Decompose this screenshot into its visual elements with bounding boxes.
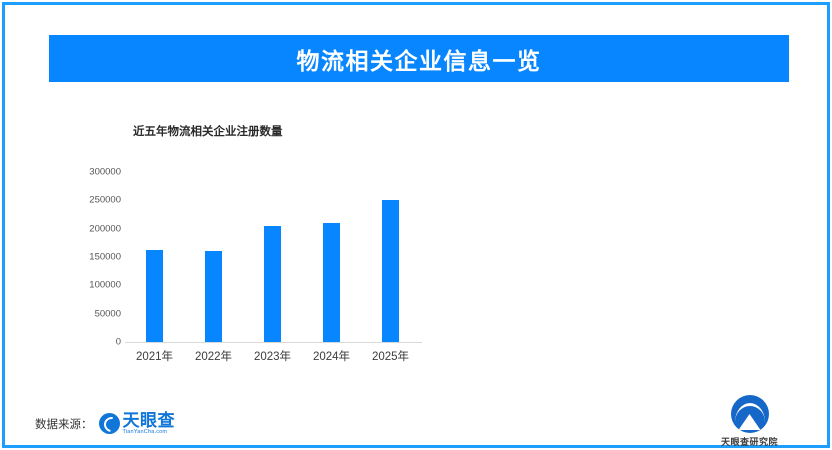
infographic-card: 物流相关企业信息一览 近五年物流相关企业注册数量 050000100000150… [2,2,830,448]
tianyancha-eye-icon [99,413,120,434]
registrations-x-tick: 2025年 [361,348,420,364]
registrations-chart-title: 近五年物流相关企业注册数量 [133,123,283,139]
registrations-y-tick: 0 [116,337,121,348]
registrations-bar-slot [184,172,243,342]
registrations-x-tick: 2021年 [125,348,184,364]
institute-logo-icon [731,395,769,433]
data-source-label: 数据来源： [35,416,93,432]
registrations-y-tick: 100000 [89,280,121,291]
registrations-x-tick: 2024年 [302,348,361,364]
registrations-y-tick: 50000 [95,308,121,319]
registrations-y-tick: 150000 [89,252,121,263]
data-source: 数据来源： 天眼查 TianYanCha.com [35,412,175,436]
registrations-bar [323,223,340,342]
registrations-x-axis-line [125,342,422,343]
registrations-bar [205,251,222,342]
registrations-x-tick: 2022年 [184,348,243,364]
institute-brand: 天眼查研究院 [721,395,778,448]
registrations-bars [125,172,420,342]
tianyancha-name: 天眼查 [123,412,176,429]
registrations-bar-slot [302,172,361,342]
tianyancha-logo: 天眼查 TianYanCha.com [99,412,176,436]
registrations-bar [146,250,163,342]
registrations-y-axis-labels: 050000100000150000200000250000300000 [63,165,121,350]
registrations-bar-slot [125,172,184,342]
registrations-x-tick: 2023年 [243,348,302,364]
registrations-bar-slot [243,172,302,342]
registrations-y-tick: 200000 [89,223,121,234]
registrations-bar [264,226,281,342]
tianyancha-domain: TianYanCha.com [123,430,176,436]
region-distribution-chart: 物流相关企业地区分布 广东省山东省江苏省湖北省浙江省 0500001000001… [425,5,832,385]
tianyancha-wordmark: 天眼查 TianYanCha.com [123,412,176,436]
registrations-bar [382,200,399,342]
registrations-bar-slot [361,172,420,342]
institute-name: 天眼查研究院 [721,435,778,448]
registrations-y-tick: 250000 [89,195,121,206]
registrations-chart: 近五年物流相关企业注册数量 05000010000015000020000025… [5,5,425,385]
registrations-y-tick: 300000 [89,167,121,178]
registrations-x-axis-labels: 2021年2022年2023年2024年2025年 [125,348,420,364]
